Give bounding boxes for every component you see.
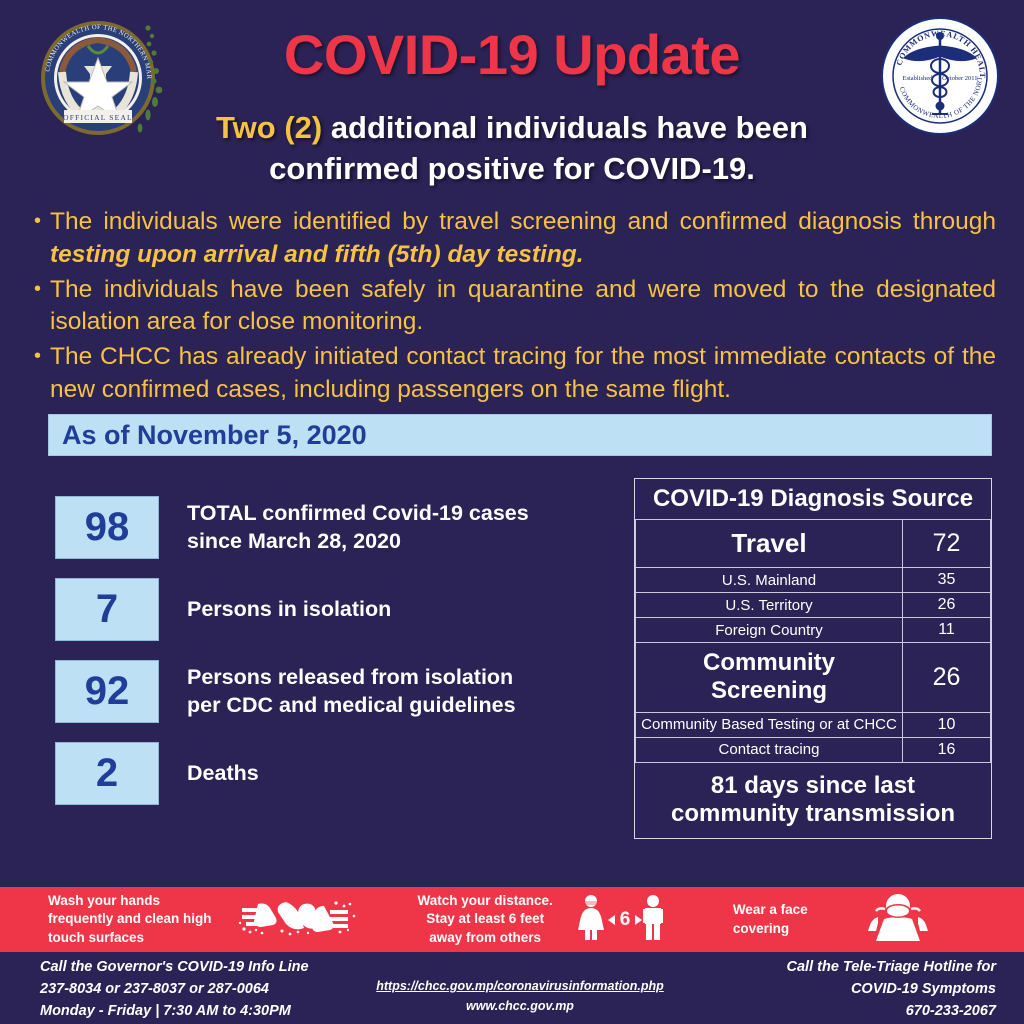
tip-line3: touch surfaces bbox=[48, 929, 212, 947]
table-cell-value: 35 bbox=[903, 568, 991, 593]
stat-value-box: 2 bbox=[55, 742, 159, 805]
table-row-header: COVID-19 Diagnosis Source bbox=[636, 479, 991, 520]
bullet-dot-icon: • bbox=[34, 274, 50, 304]
tip-text: Wear a face covering bbox=[733, 901, 808, 937]
table-cell-value: 10 bbox=[903, 712, 991, 737]
table-footer-line2: community transmission bbox=[642, 800, 985, 829]
table-cell-value: 72 bbox=[903, 520, 991, 568]
bullet-text-plain: The individuals were identified by trave… bbox=[50, 208, 996, 235]
footer-url-coronavirus[interactable]: https://chcc.gov.mp/coronavirusinformati… bbox=[355, 976, 685, 996]
bullet-text-emphasis: testing upon arrival and fifth (5th) day… bbox=[50, 241, 584, 268]
stat-label: Deaths bbox=[187, 760, 259, 788]
tip-social-distance: Watch your distance. Stay at least 6 fee… bbox=[418, 892, 677, 947]
table-cell-value: 11 bbox=[903, 618, 991, 643]
table-cell-label: Community Screening bbox=[636, 643, 903, 713]
table-cell-label: U.S. Territory bbox=[636, 593, 903, 618]
subtitle-text: additional individuals have been confirm… bbox=[269, 110, 808, 186]
footer-left-line2: 237-8034 or 237-8037 or 287-0064 bbox=[40, 978, 370, 1000]
list-item: • The CHCC has already initiated contact… bbox=[34, 341, 996, 407]
footer-left-line1: Call the Governor's COVID-19 Info Line bbox=[40, 956, 370, 978]
footer-right-line1: Call the Tele-Triage Hotline for bbox=[666, 956, 996, 978]
stat-label-line1: Persons released from isolation bbox=[187, 664, 516, 692]
bullet-list: • The individuals were identified by tra… bbox=[34, 206, 996, 409]
tip-line1: Wash your hands bbox=[48, 892, 212, 910]
tip-face-covering: Wear a face covering bbox=[733, 893, 952, 946]
table-row: U.S. Territory 26 bbox=[636, 593, 991, 618]
stat-row-total: 98 TOTAL confirmed Covid-19 cases since … bbox=[55, 496, 615, 559]
washing-hands-icon bbox=[238, 896, 356, 943]
bullet-text: The individuals were identified by trave… bbox=[50, 206, 996, 272]
stat-value-box: 7 bbox=[55, 578, 159, 641]
table-cell-label: Foreign Country bbox=[636, 618, 903, 643]
table-cell-value: 16 bbox=[903, 737, 991, 762]
svg-text:OFFICIAL SEAL: OFFICIAL SEAL bbox=[63, 113, 133, 122]
table-row-footer: 81 days since last community transmissio… bbox=[636, 762, 991, 838]
diagnosis-source-table: COVID-19 Diagnosis Source Travel 72 U.S.… bbox=[634, 478, 992, 839]
stat-row-deaths: 2 Deaths bbox=[55, 742, 615, 805]
stat-label: TOTAL confirmed Covid-19 cases since Mar… bbox=[187, 500, 529, 556]
table-row: U.S. Mainland 35 bbox=[636, 568, 991, 593]
table-row: Contact tracing 16 bbox=[636, 737, 991, 762]
community-label-line1: Community bbox=[640, 649, 898, 677]
tip-wash-hands: Wash your hands frequently and clean hig… bbox=[48, 892, 366, 947]
tip-line2: covering bbox=[733, 920, 808, 938]
table-row: Community Based Testing or at CHCC 10 bbox=[636, 712, 991, 737]
list-item: • The individuals have been safely in qu… bbox=[34, 274, 996, 340]
community-label-line2: Screening bbox=[640, 677, 898, 705]
social-distance-icon: 6 bbox=[575, 893, 667, 946]
face-mask-icon bbox=[854, 893, 942, 946]
footer-governor-info: Call the Governor's COVID-19 Info Line 2… bbox=[40, 956, 370, 1022]
bullet-dot-icon: • bbox=[34, 206, 50, 236]
tip-text: Watch your distance. Stay at least 6 fee… bbox=[418, 892, 553, 947]
footer-left-line3: Monday - Friday | 7:30 AM to 4:30PM bbox=[40, 1000, 370, 1022]
prevention-tips-banner: Wash your hands frequently and clean hig… bbox=[0, 887, 1024, 952]
table-cell-label: Community Based Testing or at CHCC bbox=[636, 712, 903, 737]
stat-label-line1: TOTAL confirmed Covid-19 cases bbox=[187, 500, 529, 528]
stat-label-line1: Deaths bbox=[187, 760, 259, 788]
svg-text:6: 6 bbox=[620, 909, 631, 930]
stat-label-line2: per CDC and medical guidelines bbox=[187, 692, 516, 720]
table-cell-value: 26 bbox=[903, 643, 991, 713]
stats-list: 98 TOTAL confirmed Covid-19 cases since … bbox=[55, 496, 615, 824]
list-item: • The individuals were identified by tra… bbox=[34, 206, 996, 272]
stat-label: Persons in isolation bbox=[187, 596, 391, 624]
subtitle-count: Two (2) bbox=[216, 110, 322, 145]
bullet-text: The individuals have been safely in quar… bbox=[50, 274, 996, 340]
table-cell-label: U.S. Mainland bbox=[636, 568, 903, 593]
table-cell-label: Contact tracing bbox=[636, 737, 903, 762]
covid-update-infographic: OFFICIAL SEAL COMMONWEALTH OF THE NORTHE… bbox=[0, 0, 1024, 1024]
stat-value-box: 98 bbox=[55, 496, 159, 559]
footer-url-chcc[interactable]: www.chcc.gov.mp bbox=[355, 996, 685, 1016]
table-row: Foreign Country 11 bbox=[636, 618, 991, 643]
stat-value-box: 92 bbox=[55, 660, 159, 723]
stat-label: Persons released from isolation per CDC … bbox=[187, 664, 516, 720]
date-banner: As of November 5, 2020 bbox=[48, 414, 992, 456]
table-footer-line1: 81 days since last bbox=[642, 772, 985, 801]
table-row: Travel 72 bbox=[636, 520, 991, 568]
date-banner-label: As of November 5, 2020 bbox=[62, 420, 367, 451]
footer-right-line2: COVID-19 Symptoms bbox=[666, 978, 996, 1000]
table-row: Community Screening 26 bbox=[636, 643, 991, 713]
footer-links: https://chcc.gov.mp/coronavirusinformati… bbox=[355, 976, 685, 1016]
bullet-dot-icon: • bbox=[34, 341, 50, 371]
chcc-logo-icon: COMMONWEALTH HEALTHCARE CORP. COMMONWEAL… bbox=[870, 14, 1010, 144]
footer: Call the Governor's COVID-19 Info Line 2… bbox=[0, 952, 1024, 1024]
stat-row-isolation: 7 Persons in isolation bbox=[55, 578, 615, 641]
stat-label-line2: since March 28, 2020 bbox=[187, 528, 529, 556]
stat-row-released: 92 Persons released from isolation per C… bbox=[55, 660, 615, 723]
page-subtitle: Two (2) additional individuals have been… bbox=[150, 108, 874, 190]
tip-line2: Stay at least 6 feet bbox=[418, 910, 553, 928]
svg-text:Established October 2011: Established October 2011 bbox=[902, 75, 977, 82]
bullet-text: The CHCC has already initiated contact t… bbox=[50, 341, 996, 407]
table-footer: 81 days since last community transmissio… bbox=[636, 762, 991, 838]
footer-hotline-info: Call the Tele-Triage Hotline for COVID-1… bbox=[666, 956, 996, 1022]
footer-right-line3: 670-233-2067 bbox=[666, 1000, 996, 1022]
tip-line1: Wear a face bbox=[733, 901, 808, 919]
table-title: COVID-19 Diagnosis Source bbox=[636, 479, 991, 520]
tip-line1: Watch your distance. bbox=[418, 892, 553, 910]
table-cell-value: 26 bbox=[903, 593, 991, 618]
stat-label-line1: Persons in isolation bbox=[187, 596, 391, 624]
tip-text: Wash your hands frequently and clean hig… bbox=[48, 892, 212, 947]
table-cell-label: Travel bbox=[636, 520, 903, 568]
tip-line3: away from others bbox=[418, 929, 553, 947]
tip-line2: frequently and clean high bbox=[48, 910, 212, 928]
